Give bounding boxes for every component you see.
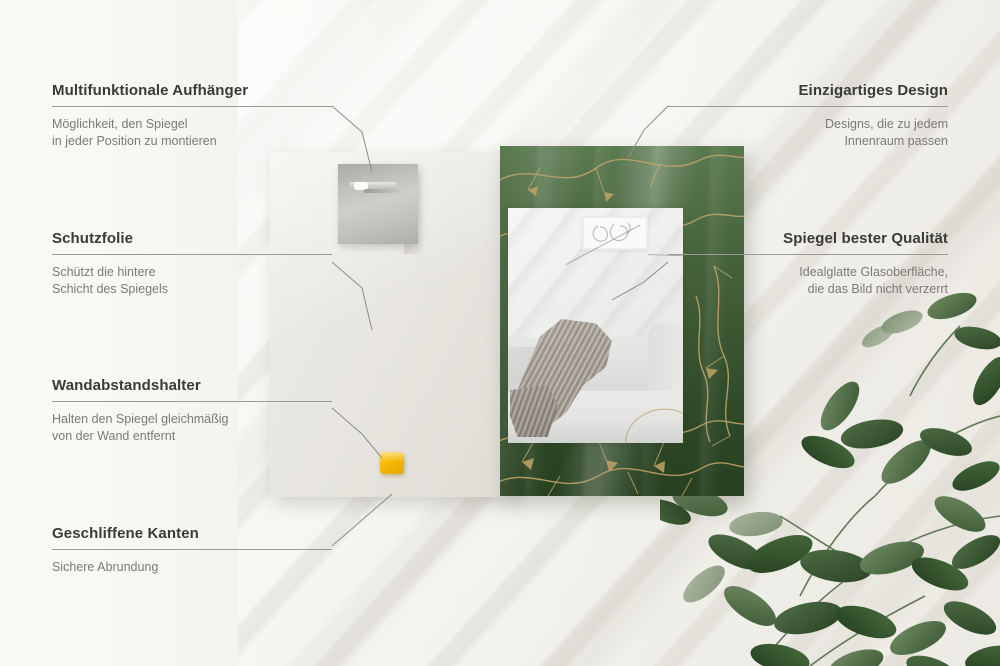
callout-rule <box>52 254 332 255</box>
callout-description: Sichere Abrundung <box>52 559 332 576</box>
callout-rule <box>668 106 948 107</box>
callout-title: Multifunktionale Aufhänger <box>52 82 332 99</box>
callout-rule <box>668 254 948 255</box>
callout-title: Spiegel bester Qualität <box>668 230 948 247</box>
callout-title: Geschliffene Kanten <box>52 525 332 542</box>
callout-rule <box>52 549 332 550</box>
callout-geschliffene-kanten: Geschliffene Kanten Sichere Abrundung <box>52 525 332 576</box>
callout-schutzfolie: Schutzfolie Schützt die hintere Schicht … <box>52 230 332 298</box>
reflected-framed-art <box>582 216 648 250</box>
wall-spacer-detail <box>380 452 404 474</box>
callout-rule <box>52 106 332 107</box>
callout-title: Schutzfolie <box>52 230 332 247</box>
callout-description: Idealglatte Glasoberfläche, die das Bild… <box>668 264 948 298</box>
infographic-canvas: Multifunktionale Aufhänger Möglichkeit, … <box>0 0 1000 666</box>
hanger-bracket-icon <box>350 180 402 194</box>
callout-description: Halten den Spiegel gleichmäßig von der W… <box>52 411 332 445</box>
callout-spiegel-bester-qualitaet: Spiegel bester Qualität Idealglatte Glas… <box>668 230 948 298</box>
callout-description: Möglichkeit, den Spiegel in jeder Positi… <box>52 116 332 150</box>
callout-title: Einzigartiges Design <box>668 82 948 99</box>
callout-wandabstandshalter: Wandabstandshalter Halten den Spiegel gl… <box>52 377 332 445</box>
callout-einzigartiges-design: Einzigartiges Design Designs, die zu jed… <box>668 82 948 150</box>
callout-multifunktionale-aufhaenger: Multifunktionale Aufhänger Möglichkeit, … <box>52 82 332 150</box>
mirror-reflection <box>508 208 683 443</box>
hanger-detail <box>338 164 418 244</box>
callout-title: Wandabstandshalter <box>52 377 332 394</box>
mirror-front-panel <box>500 146 744 496</box>
callout-description: Schützt die hintere Schicht des Spiegels <box>52 264 332 298</box>
callout-description: Designs, die zu jedem Innenraum passen <box>668 116 948 150</box>
callout-rule <box>52 401 332 402</box>
